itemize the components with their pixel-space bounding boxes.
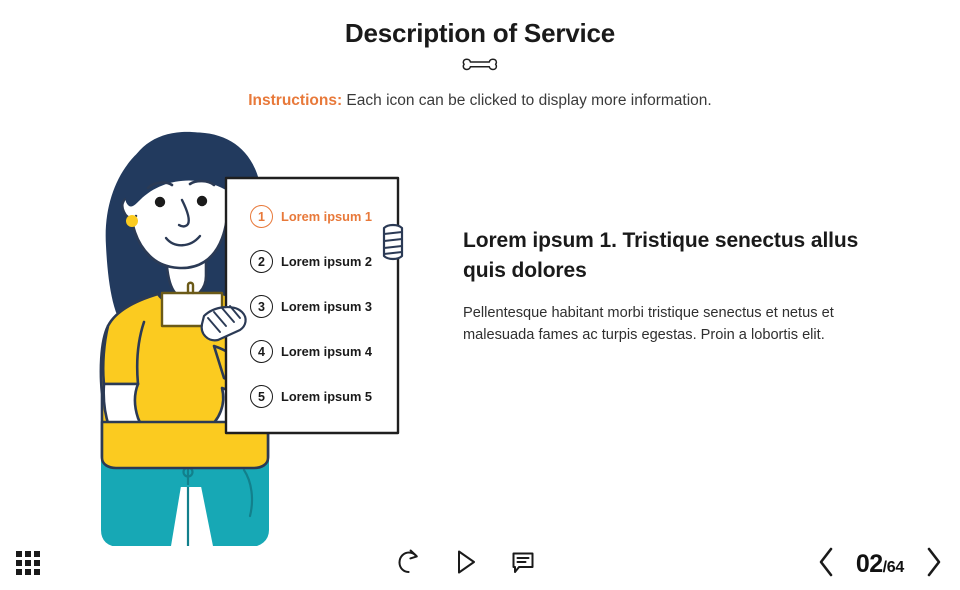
chevron-left-icon[interactable]: [816, 546, 836, 583]
chevron-right-icon[interactable]: [924, 546, 944, 583]
list-item-label: Lorem ipsum 2: [281, 254, 372, 269]
total-pages: /64: [883, 559, 904, 577]
list-item-label: Lorem ipsum 1: [281, 209, 372, 224]
woman-holding-board-illustration: 1 Lorem ipsum 1 2 Lorem ipsum 2 3 Lorem …: [62, 126, 422, 546]
slide-header: Description of Service Instructions: Eac…: [0, 0, 960, 111]
list-item-number: 3: [250, 295, 273, 318]
play-icon[interactable]: [455, 548, 477, 581]
current-page: 02: [856, 550, 883, 579]
list-item[interactable]: 2 Lorem ipsum 2: [250, 239, 400, 284]
page-title: Description of Service: [0, 0, 960, 49]
page-indicator: 02/64: [856, 550, 904, 579]
list-item[interactable]: 1 Lorem ipsum 1: [250, 194, 400, 239]
list-item-label: Lorem ipsum 5: [281, 389, 372, 404]
detail-body: Pellentesque habitant morbi tristique se…: [463, 302, 875, 346]
notes-icon[interactable]: [511, 548, 535, 581]
list-item-number: 5: [250, 385, 273, 408]
detail-title: Lorem ipsum 1. Tristique senectus allus …: [463, 226, 875, 286]
list-item-label: Lorem ipsum 3: [281, 299, 372, 314]
list-item[interactable]: 5 Lorem ipsum 5: [250, 374, 400, 419]
instructions-line: Instructions: Each icon can be clicked t…: [0, 91, 960, 111]
replay-icon[interactable]: [395, 548, 421, 581]
instructions-label: Instructions:: [248, 92, 342, 109]
list-item-label: Lorem ipsum 4: [281, 344, 372, 359]
list-item[interactable]: 4 Lorem ipsum 4: [250, 329, 400, 374]
player-toolbar: 02/64: [0, 536, 960, 590]
instructions-text: Each icon can be clicked to display more…: [342, 92, 712, 109]
bone-icon: [458, 56, 502, 79]
list-item-number: 2: [250, 250, 273, 273]
pagination-controls: 02/64: [816, 546, 944, 583]
slide-stage: 1 Lorem ipsum 1 2 Lorem ipsum 2 3 Lorem …: [0, 126, 960, 538]
grid-menu-icon[interactable]: [14, 549, 42, 577]
detail-panel: Lorem ipsum 1. Tristique senectus allus …: [463, 226, 875, 346]
list-item-number: 1: [250, 205, 273, 228]
lorem-list[interactable]: 1 Lorem ipsum 1 2 Lorem ipsum 2 3 Lorem …: [250, 194, 400, 419]
list-item-number: 4: [250, 340, 273, 363]
playback-controls: [395, 548, 535, 581]
list-item[interactable]: 3 Lorem ipsum 3: [250, 284, 400, 329]
title-divider: [0, 55, 960, 81]
